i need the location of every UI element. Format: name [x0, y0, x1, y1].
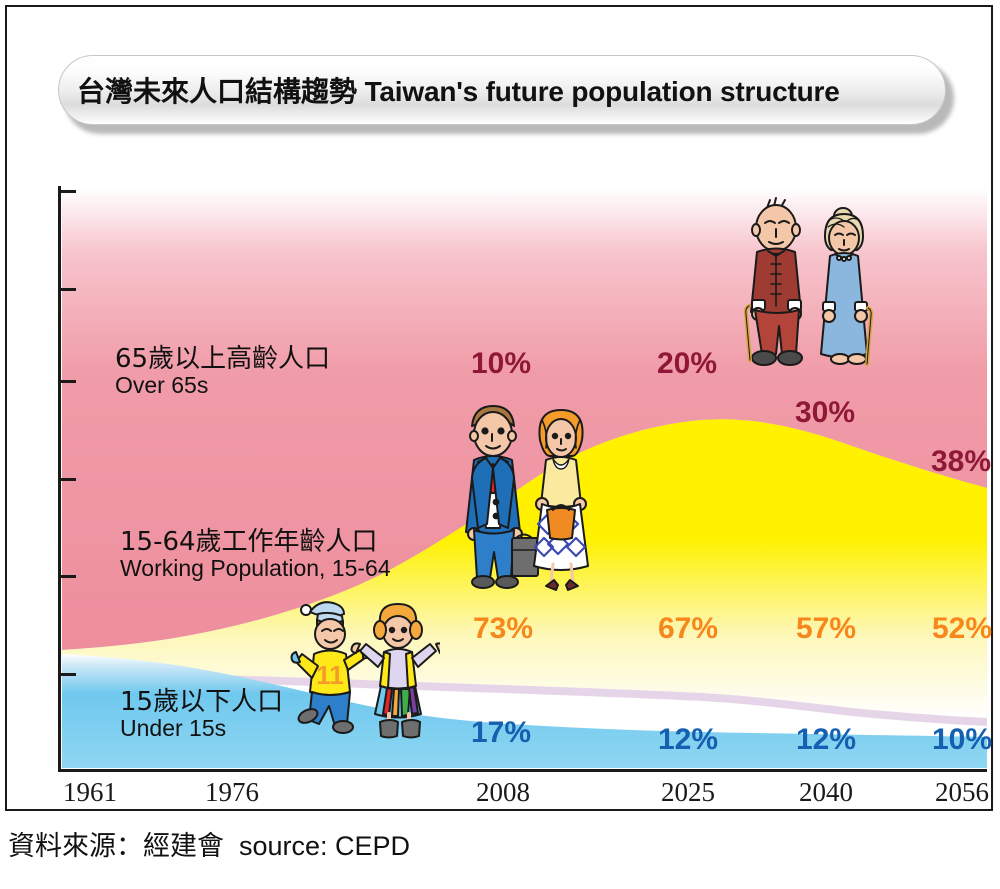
infographic-page: 台灣未來人口結構趨勢 Taiwan's future population st…: [0, 0, 1000, 889]
x-tick-label-1976: 1976: [205, 777, 259, 808]
x-tick-label-2025: 2025: [661, 777, 715, 808]
y-tick-5: [58, 575, 76, 578]
children-illustration: 11: [288, 600, 440, 765]
elderly-couple-illustration: [735, 196, 885, 401]
page-title: 台灣未來人口結構趨勢 Taiwan's future population st…: [77, 70, 840, 110]
series-label-over65-cjk: 65歲以上高齡人口: [115, 345, 330, 373]
page-title-cjk: 台灣未來人口結構趨勢: [77, 75, 357, 108]
source-line: 資料來源：經建會 source: CEPD: [8, 824, 410, 863]
x-tick-label-2040: 2040: [799, 777, 853, 808]
source-cjk: 資料來源：經建會: [8, 831, 224, 862]
series-label-working-en: Working Population, 15-64: [120, 556, 391, 581]
series-label-over65-en: Over 65s: [115, 373, 330, 398]
data-label-over65-2040: 30%: [795, 396, 855, 430]
y-tick-4: [58, 478, 76, 481]
children-icon: 11: [288, 600, 440, 760]
data-label-over65-2008: 10%: [471, 347, 531, 381]
series-label-working-cjk: 15-64歲工作年齡人口: [120, 528, 391, 556]
svg-text:11: 11: [316, 660, 344, 690]
data-label-working-2025: 67%: [658, 612, 718, 646]
data-label-under15-2040: 12%: [796, 723, 856, 757]
series-label-under15-cjk: 15歲以下人口: [120, 688, 283, 716]
page-title-en: Taiwan's future population structure: [357, 76, 840, 107]
working-adults-illustration: [458, 398, 610, 618]
title-banner: 台灣未來人口結構趨勢 Taiwan's future population st…: [58, 55, 946, 125]
data-label-working-2040: 57%: [796, 612, 856, 646]
data-label-under15-2025: 12%: [658, 723, 718, 757]
x-tick-label-2056: 2056: [935, 777, 989, 808]
series-label-under15-en: Under 15s: [120, 716, 283, 741]
elderly-couple-icon: [735, 196, 885, 396]
data-label-under15-2008: 17%: [471, 716, 531, 750]
x-tick-label-2008: 2008: [476, 777, 530, 808]
series-label-over65: 65歲以上高齡人口 Over 65s: [115, 345, 330, 398]
x-tick-label-1961: 1961: [63, 777, 117, 808]
x-axis-line: [58, 769, 987, 772]
y-tick-1: [58, 190, 76, 193]
series-label-under15: 15歲以下人口 Under 15s: [120, 688, 283, 741]
data-label-over65-2025: 20%: [657, 347, 717, 381]
y-tick-6: [58, 673, 76, 676]
data-label-over65-2056: 38%: [931, 445, 991, 479]
working-adults-icon: [458, 398, 610, 613]
data-label-under15-2056: 10%: [932, 723, 992, 757]
data-label-working-2056: 52%: [932, 612, 992, 646]
y-tick-2: [58, 288, 76, 291]
series-label-working: 15-64歲工作年齡人口 Working Population, 15-64: [120, 528, 391, 581]
source-en: source: CEPD: [224, 831, 410, 861]
y-tick-3: [58, 380, 76, 383]
